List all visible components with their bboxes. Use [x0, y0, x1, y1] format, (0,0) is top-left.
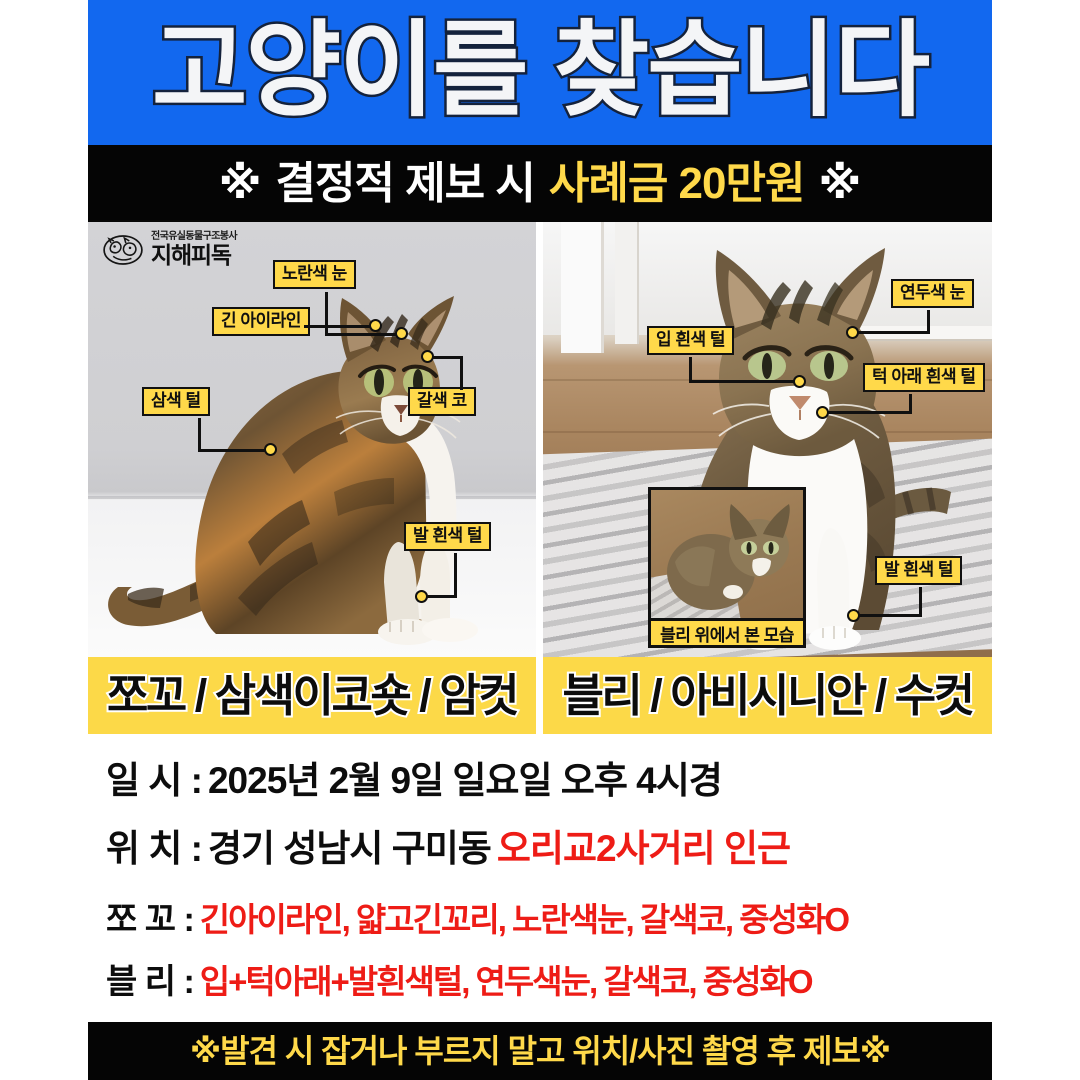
cat-photo-right: 블리 위에서 본 모습 연두색 눈 입 흰색 털 턱 아래 흰색 털	[543, 222, 992, 657]
annotation-label: 긴 아이라인	[212, 307, 310, 336]
asterisk-mark-left-icon: ※	[219, 162, 262, 206]
cat2-description-row: 블 리 : 입+턱아래+발흰색털, 연두색눈, 갈색코, 중성화O	[106, 954, 992, 1003]
cat-photo-left: 전국유실동물구조봉사 지해피독 노란색 눈 긴 아이라인 삼색 털	[88, 222, 536, 657]
cat1-description: 긴아이라인, 얇고긴꼬리, 노란색눈, 갈색코, 중성화O	[200, 893, 848, 941]
poster-header-banner: 고양이를 찾습니다	[88, 0, 992, 145]
leader-line	[325, 333, 401, 336]
leader-line	[689, 380, 799, 383]
leader-line	[426, 595, 457, 598]
reward-prefix-text: 결정적 제보 시	[276, 162, 535, 206]
leader-line	[432, 356, 463, 359]
cat-name-text-left: 쪼꼬 / 삼색이코숏 / 암컷	[107, 673, 517, 718]
datetime-label: 일 시 :	[106, 750, 202, 804]
leader-line	[325, 292, 328, 336]
inset-photo-overhead-view: 블리 위에서 본 모습	[648, 487, 806, 648]
cat-name-bars: 쪼꼬 / 삼색이코숏 / 암컷 블리 / 아비시니안 / 수컷	[88, 657, 992, 734]
logo-name: 지해피독	[151, 244, 237, 267]
missing-cat-poster: 고양이를 찾습니다 ※ 결정적 제보 시 사례금 20만원 ※	[0, 0, 1080, 1080]
instruction-banner: ※발견 시 잡거나 부르지 말고 위치/사진 촬영 후 제보※	[88, 1022, 992, 1080]
leader-line	[198, 449, 270, 452]
instruction-text: ※발견 시 잡거나 부르지 말고 위치/사진 촬영 후 제보※	[190, 1035, 890, 1067]
door-frame	[561, 222, 604, 353]
annotation-dot	[421, 350, 434, 363]
dog-cat-circle-icon	[102, 233, 144, 267]
leader-line	[454, 553, 457, 598]
annotation-dot	[816, 406, 829, 419]
annotation-label: 입 흰색 털	[647, 326, 734, 355]
leader-line	[827, 411, 912, 414]
calico-cat-illustration	[98, 242, 536, 657]
datetime-value: 2025년 2월 9일 일요일 오후 4시경	[208, 750, 722, 804]
door-frame-secondary	[615, 222, 639, 344]
page-title: 고양이를 찾습니다	[152, 19, 928, 123]
annotation-dot	[847, 609, 860, 622]
inset-cat-illustration	[659, 500, 799, 618]
annotation-dot	[793, 375, 806, 388]
location-value-landmark: 오리교2사거리 인근	[497, 818, 790, 872]
reward-banner: ※ 결정적 제보 시 사례금 20만원 ※	[88, 145, 992, 222]
annotation-dot	[395, 327, 408, 340]
annotation-dot	[846, 326, 859, 339]
cat1-description-row: 쪼 꼬 : 긴아이라인, 얇고긴꼬리, 노란색눈, 갈색코, 중성화O	[106, 892, 992, 941]
cat2-label: 블 리 :	[106, 954, 194, 1003]
annotation-label: 발 흰색 털	[404, 522, 491, 551]
annotation-dot	[369, 319, 382, 332]
location-value-area: 경기 성남시 구미동	[208, 818, 491, 872]
annotation-label: 노란색 눈	[273, 260, 356, 289]
annotation-dot	[415, 590, 428, 603]
cat-name-bar-right: 블리 / 아비시니안 / 수컷	[543, 657, 992, 734]
leader-line	[919, 587, 922, 617]
leader-line	[858, 614, 922, 617]
datetime-row: 일 시 : 2025년 2월 9일 일요일 오후 4시경	[106, 750, 992, 804]
location-row: 위 치 : 경기 성남시 구미동 오리교2사거리 인근	[106, 818, 992, 872]
rescue-org-logo: 전국유실동물구조봉사 지해피독	[102, 232, 237, 267]
leader-line	[460, 359, 463, 390]
cat-name-bar-left: 쪼꼬 / 삼색이코숏 / 암컷	[88, 657, 536, 734]
location-label: 위 치 :	[106, 818, 202, 872]
leader-line	[198, 418, 201, 452]
logo-tagline: 전국유실동물구조봉사	[151, 232, 237, 242]
leader-line	[857, 331, 930, 334]
reward-amount-text: 사례금 20만원	[549, 162, 805, 206]
cat2-description: 입+턱아래+발흰색털, 연두색눈, 갈색코, 중성화O	[200, 955, 812, 1003]
asterisk-mark-right-icon: ※	[818, 162, 861, 206]
cat1-label: 쪼 꼬 :	[106, 892, 194, 941]
cat-photo-area: 전국유실동물구조봉사 지해피독 노란색 눈 긴 아이라인 삼색 털	[88, 222, 992, 657]
annotation-label: 턱 아래 흰색 털	[863, 363, 985, 392]
inset-photo-caption: 블리 위에서 본 모습	[648, 618, 806, 648]
annotation-label: 연두색 눈	[891, 279, 974, 308]
annotation-label: 삼색 털	[142, 387, 210, 416]
annotation-dot	[264, 443, 277, 456]
annotation-label: 발 흰색 털	[875, 556, 962, 585]
cat-name-text-right: 블리 / 아비시니안 / 수컷	[562, 673, 972, 718]
annotation-label: 갈색 코	[408, 387, 476, 416]
incident-details: 일 시 : 2025년 2월 9일 일요일 오후 4시경 위 치 : 경기 성남…	[88, 742, 992, 1020]
leader-line	[304, 325, 374, 328]
